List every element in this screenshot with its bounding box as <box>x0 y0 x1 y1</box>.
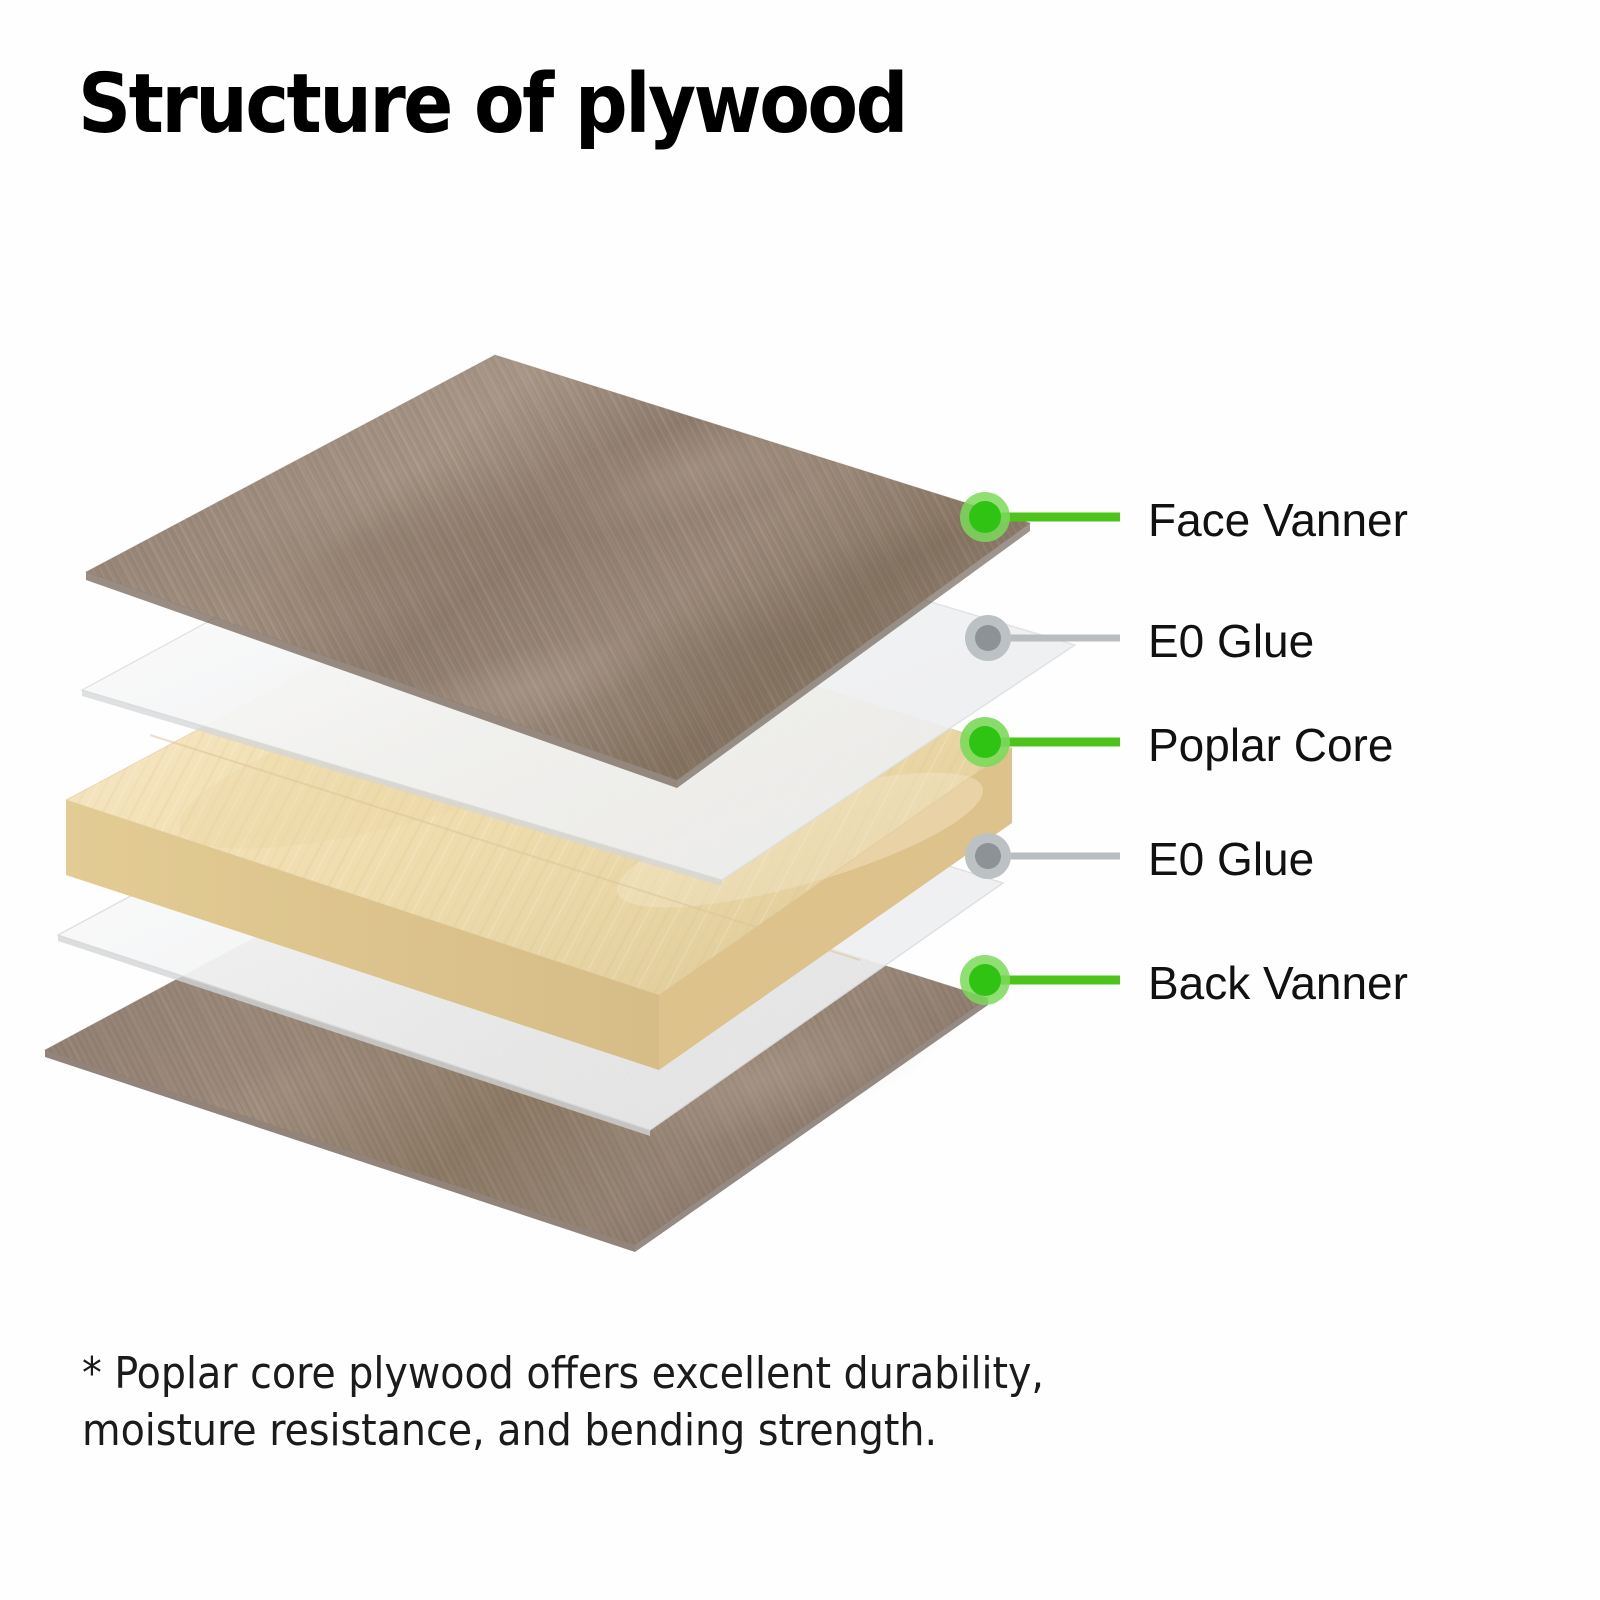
marker-dot-glue-top <box>965 615 1011 661</box>
callout-label-face-vanner: Face Vanner <box>1148 493 1408 547</box>
marker-dot-glue-bottom <box>965 833 1011 879</box>
marker-dot-poplar-core <box>960 717 1010 767</box>
callout-label-poplar-core: Poplar Core <box>1148 718 1393 772</box>
footnote-line-1: * Poplar core plywood offers excellent d… <box>82 1345 1382 1402</box>
marker-dot-back-vanner <box>960 955 1010 1005</box>
callout-label-glue-bottom: E0 Glue <box>1148 832 1314 886</box>
marker-dot-face-vanner <box>960 492 1010 542</box>
callout-label-back-vanner: Back Vanner <box>1148 956 1408 1010</box>
footnote-line-2: moisture resistance, and bending strengt… <box>82 1402 1382 1459</box>
callout-label-glue-top: E0 Glue <box>1148 614 1314 668</box>
footnote: * Poplar core plywood offers excellent d… <box>82 1345 1382 1459</box>
